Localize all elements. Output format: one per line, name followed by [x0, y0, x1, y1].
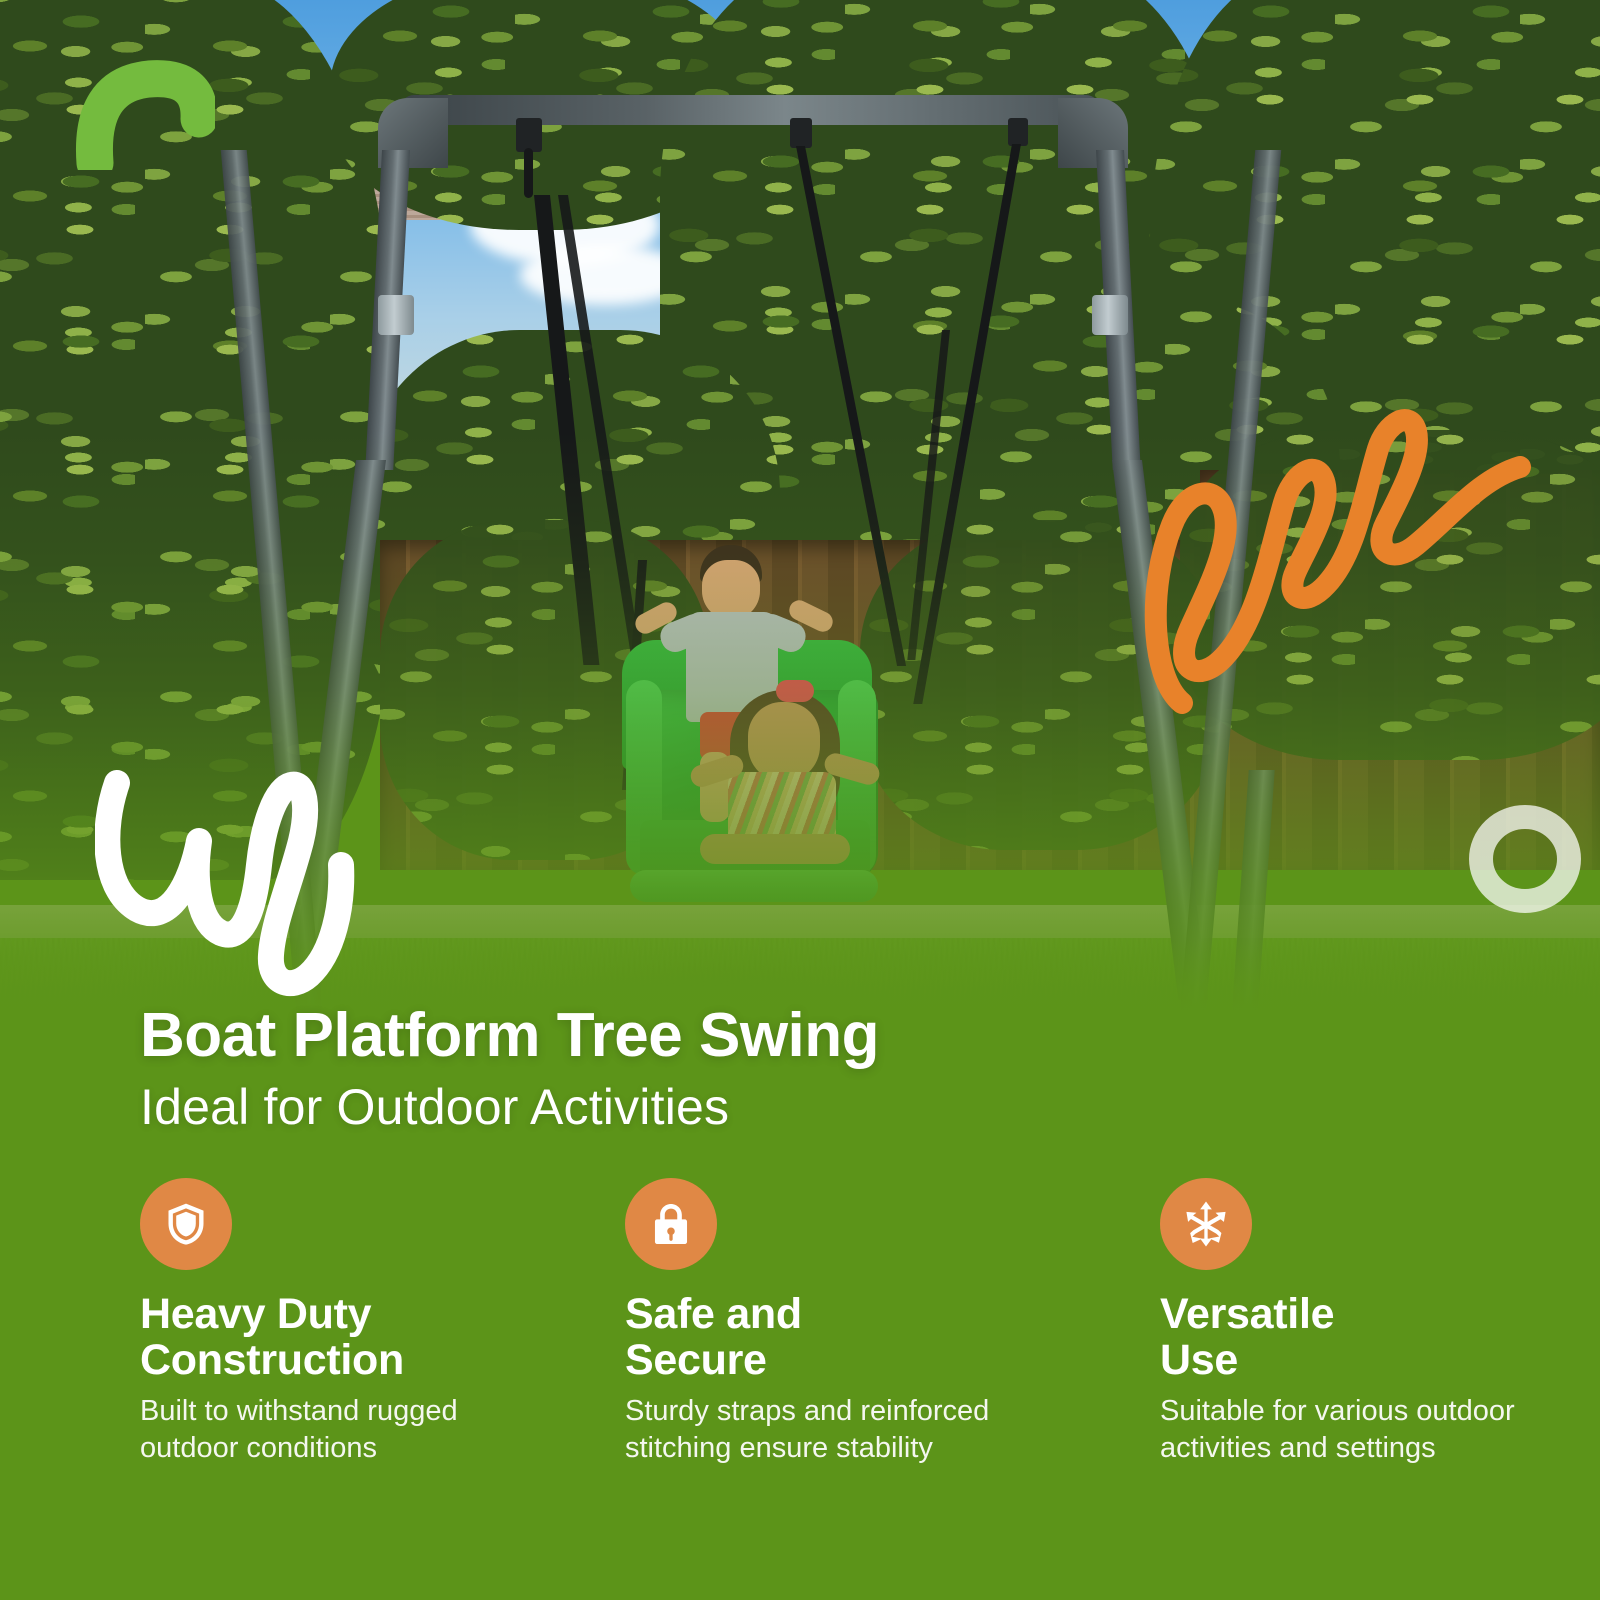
arrows-multi-direction-icon [1181, 1199, 1231, 1249]
feature-title: Safe and Secure [625, 1292, 1105, 1383]
feature-description: Sturdy straps and reinforced stitching e… [625, 1393, 1105, 1467]
swing-hanger [1008, 118, 1028, 146]
swing-top-beam [400, 95, 1100, 125]
shield-icon [161, 1199, 211, 1249]
feature-item: Heavy Duty Construction Built to withsta… [140, 1178, 610, 1467]
feature-icon-badge [1160, 1178, 1252, 1270]
feature-title: Versatile Use [1160, 1292, 1580, 1383]
feature-description: Built to withstand rugged outdoor condit… [140, 1393, 610, 1467]
white-ring-accent [1466, 805, 1584, 913]
feature-icon-badge [140, 1178, 232, 1270]
product-feature-card: Boat Platform Tree Swing Ideal for Outdo… [0, 0, 1600, 1600]
page-subtitle: Ideal for Outdoor Activities [140, 1078, 729, 1136]
feature-item: Safe and Secure Sturdy straps and reinfo… [625, 1178, 1105, 1467]
page-title: Boat Platform Tree Swing [140, 1000, 879, 1071]
content-panel: Boat Platform Tree Swing Ideal for Outdo… [0, 960, 1600, 1600]
orange-cursive-scribble [1120, 385, 1540, 725]
swing-hanger [516, 118, 542, 152]
feature-description: Suitable for various outdoor activities … [1160, 1393, 1580, 1467]
swing-hanger [790, 118, 812, 148]
feature-item: Versatile Use Suitable for various outdo… [1160, 1178, 1580, 1467]
green-arc-mark [75, 45, 215, 170]
swing-strap [524, 148, 533, 198]
feature-icon-badge [625, 1178, 717, 1270]
lock-icon [646, 1199, 696, 1249]
feature-title: Heavy Duty Construction [140, 1292, 610, 1383]
